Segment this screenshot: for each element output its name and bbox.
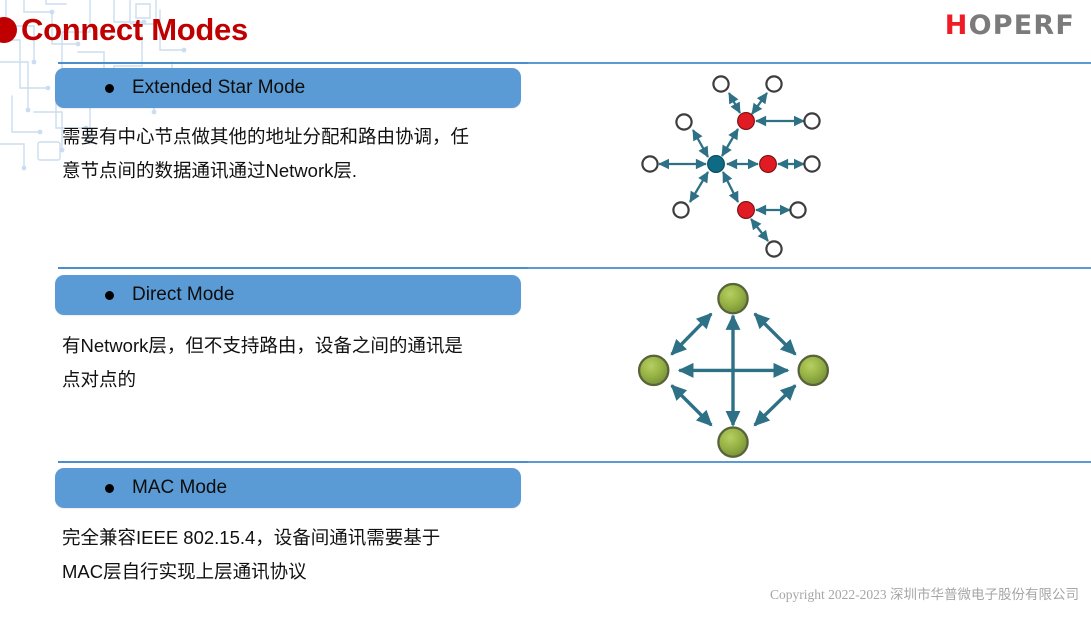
body-line: 点对点的 [62,363,532,397]
slide-title-row: Connect Modes [0,8,248,52]
bullet-icon [105,291,114,300]
logo-text-rest: OPERF [969,10,1075,41]
extended-star-topology-diagram [608,64,858,269]
page-title: Connect Modes [21,12,248,48]
logo-letter-h: H [945,10,969,41]
mesh-links [672,314,796,425]
body-line: MAC层自行实现上层通讯协议 [62,555,532,589]
section-divider-2 [58,267,1091,269]
section-heading-label: Extended Star Mode [132,77,305,99]
section-heading-label: Direct Mode [132,284,234,306]
hoperf-logo: HOPERF [945,12,1075,39]
section-header-extended-star-mode[interactable]: Extended Star Mode [55,68,521,108]
body-line: 有Network层，但不支持路由，设备之间的通讯是 [62,329,532,363]
star-hub-node [708,156,725,173]
star-router-nodes [738,113,777,219]
section-heading-label: MAC Mode [132,477,227,499]
body-line: 需要有中心节点做其他的地址分配和路由协调，任 [62,120,532,154]
section-body-3: 完全兼容IEEE 802.15.4，设备间通讯需要基于 MAC层自行实现上层通讯… [62,521,532,589]
star-leaf-nodes [642,76,819,256]
section-divider-3 [58,461,1091,463]
body-line: 完全兼容IEEE 802.15.4，设备间通讯需要基于 [62,521,532,555]
section-header-mac-mode[interactable]: MAC Mode [55,468,521,508]
section-body-1: 需要有中心节点做其他的地址分配和路由协调，任 意节点间的数据通讯通过Networ… [62,120,532,188]
bullet-icon [105,484,114,493]
section-header-direct-mode[interactable]: Direct Mode [55,275,521,315]
bullet-icon [105,84,114,93]
direct-mesh-topology-diagram [608,276,858,461]
section-divider-1 [58,62,1091,64]
section-body-2: 有Network层，但不支持路由，设备之间的通讯是 点对点的 [62,329,532,397]
title-bullet-icon [0,17,17,43]
copyright-notice: Copyright 2022-2023 深圳市华普微电子股份有限公司 [770,583,1079,603]
body-line: 意节点间的数据通讯通过Network层. [62,154,532,188]
